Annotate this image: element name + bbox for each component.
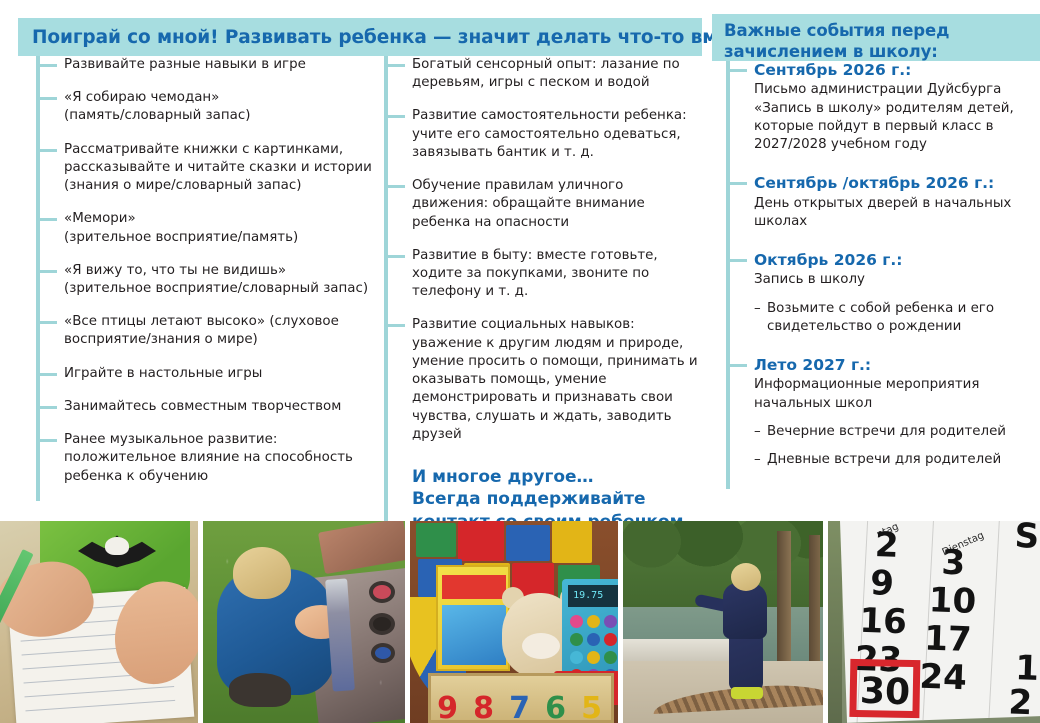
paint-pot-red — [369, 581, 395, 603]
tree-trunk — [809, 535, 820, 663]
calendar-sheet: ntag Dienstag 2 9 16 23 30 3 10 17 24 S … — [840, 521, 1040, 723]
calendar-day: 2 — [1008, 682, 1033, 722]
tree-trunk — [777, 531, 791, 663]
list-item-text: «Я вижу то, что ты не видишь» — [64, 262, 384, 280]
list-item: Ранее музыкальное развитие: положительно… — [40, 431, 384, 486]
list-item: «Я вижу то, что ты не видишь»(зрительное… — [40, 262, 384, 298]
blond-hair-shape — [233, 547, 291, 599]
list-item-text: Развивайте разные навыки в игре — [64, 56, 384, 74]
boy-legs — [729, 633, 763, 691]
list-item-text: Богатый сенсорный опыт: лазание по дерев… — [412, 56, 702, 92]
photo-child-writing-notebook — [0, 521, 198, 723]
number-puzzle-board: 9 8 7 6 5 — [428, 673, 614, 723]
calendar-red-marker — [849, 659, 920, 718]
list-item: Развитие самостоятельности ребенка: учит… — [388, 107, 702, 162]
puzzle-digit: 5 — [581, 691, 602, 723]
column-development-tips: Богатый сенсорный опыт: лазание по дерев… — [384, 56, 702, 533]
puzzle-digit: 8 — [473, 691, 494, 723]
shoe-shape — [229, 673, 291, 707]
calendar-day: 2 — [874, 525, 899, 566]
list-item-text: Развитие самостоятельности ребенка: учит… — [412, 107, 702, 162]
puzzle-digit: 6 — [545, 691, 566, 723]
event-date-title: Сентябрь /октябрь 2026 г.: — [754, 174, 1040, 193]
event-body-text: Информационные мероприятия начальных шко… — [754, 376, 1040, 412]
register-display-value: 19.75 — [568, 585, 618, 607]
calendar-day: 24 — [919, 657, 968, 699]
calendar-day: 17 — [924, 618, 973, 660]
calendar-day: 3 — [941, 543, 966, 584]
boy-body — [723, 583, 767, 639]
list-item: Обучение правилам уличного движения: обр… — [388, 177, 702, 232]
photo-boy-balancing-rope-park — [623, 521, 823, 723]
event-subitem: Вечерние встречи для родителей — [754, 423, 1040, 441]
header-left-title: Поиграй со мной! Развивать ребенка — зна… — [18, 18, 702, 56]
list-item-text: Обучение правилам уличного движения: обр… — [412, 177, 702, 232]
event-date-title: Лето 2027 г.: — [754, 356, 1040, 375]
closing-line: И многое другое… — [412, 466, 702, 488]
calendar-day: 9 — [870, 563, 895, 604]
event-date-title: Октябрь 2026 г.: — [754, 251, 1040, 270]
photo-strip: 19.75 9 8 7 6 5 — [0, 521, 1040, 723]
timeline-event: Сентябрь /октябрь 2026 г.:День открытых … — [730, 174, 1040, 231]
poster-page: Поиграй со мной! Развивать ребенка — зна… — [0, 0, 1040, 723]
header-right-title: Важные события перед зачислением в школу… — [712, 14, 1040, 61]
calendar-background-edge — [828, 521, 842, 723]
list-item-text: «Мемори» — [64, 210, 384, 228]
list-item-text: Развитие в быту: вместе готовьте, ходите… — [412, 247, 702, 302]
event-body-text: День открытых дверей в начальных школах — [754, 195, 1040, 231]
list-item-text: «Все птицы летают высоко» (слуховое восп… — [64, 313, 384, 349]
boy-shoe — [731, 687, 763, 699]
puzzle-digit: 9 — [437, 691, 458, 723]
list-item: «Все птицы летают высоко» (слуховое восп… — [40, 313, 384, 349]
timeline-event: Октябрь 2026 г.:Запись в школуВозьмите с… — [730, 251, 1040, 336]
list-item: Развитие в быту: вместе готовьте, ходите… — [388, 247, 702, 302]
list-item-text: Ранее музыкальное развитие: положительно… — [64, 431, 384, 486]
list-item: Занимайтесь совместным творчеством — [40, 398, 384, 416]
list-item: Развивайте разные навыки в игре — [40, 56, 384, 74]
photo-wall-calendar: ntag Dienstag 2 9 16 23 30 3 10 17 24 S … — [828, 521, 1040, 723]
board-game-box — [436, 565, 510, 671]
list-item-text: Развитие социальных навыков: уважение к … — [412, 316, 702, 444]
calendar-weekday-initial: S — [1014, 521, 1040, 557]
boy-head — [731, 563, 761, 591]
photo-boy-painting-outdoors — [203, 521, 405, 723]
tiger-snout — [522, 633, 560, 659]
list-item-text: «Я собираю чемодан» — [64, 89, 384, 107]
column-play-tips: Развивайте разные навыки в игре«Я собира… — [36, 56, 384, 501]
eagle-head-icon — [105, 537, 129, 555]
puzzle-digit: 7 — [509, 691, 530, 723]
list-item-text: (зрительное восприятие/словарный запас) — [64, 280, 384, 298]
event-subitem: Дневные встречи для родителей — [754, 451, 1040, 469]
list-item: Развитие социальных навыков: уважение к … — [388, 316, 702, 444]
timeline-event: Сентябрь 2026 г.:Письмо администрации Ду… — [730, 61, 1040, 154]
event-body-text: Письмо администрации Дуйсбурга «Запись в… — [754, 81, 1040, 154]
list-item-text: Играйте в настольные игры — [64, 365, 384, 383]
list-item: Рассматривайте книжки с картинками, расс… — [40, 141, 384, 196]
list-item-text: Занимайтесь совместным творчеством — [64, 398, 384, 416]
list-item-text: (память/словарный запас) — [64, 107, 384, 125]
list-item: «Я собираю чемодан»(память/словарный зап… — [40, 89, 384, 125]
timeline-event: Лето 2027 г.:Информационные мероприятия … — [730, 356, 1040, 469]
list-item-text: Рассматривайте книжки с картинками, расс… — [64, 141, 384, 196]
paint-pot-black — [369, 613, 395, 635]
closing-line: Всегда поддерживайте — [412, 488, 702, 510]
list-item: «Мемори»(зрительное восприятие/память) — [40, 210, 384, 246]
register-display: 19.75 — [568, 585, 618, 607]
calendar-day: 16 — [859, 601, 908, 643]
event-body-text: Запись в школу — [754, 271, 1040, 289]
event-date-title: Сентябрь 2026 г.: — [754, 61, 1040, 80]
column-school-timeline: Сентябрь 2026 г.:Письмо администрации Ду… — [726, 61, 1040, 489]
wooden-stool-shape — [318, 521, 405, 574]
list-item-text: (зрительное восприятие/память) — [64, 229, 384, 247]
list-item: Богатый сенсорный опыт: лазание по дерев… — [388, 56, 702, 92]
list-item: Играйте в настольные игры — [40, 365, 384, 383]
paint-pot-blue — [371, 643, 395, 663]
event-subitem: Возьмите с собой ребенка и его свидетель… — [754, 300, 1040, 336]
calendar-day: 10 — [928, 580, 977, 622]
photo-toys-blocks-tiger-register: 19.75 9 8 7 6 5 — [410, 521, 618, 723]
